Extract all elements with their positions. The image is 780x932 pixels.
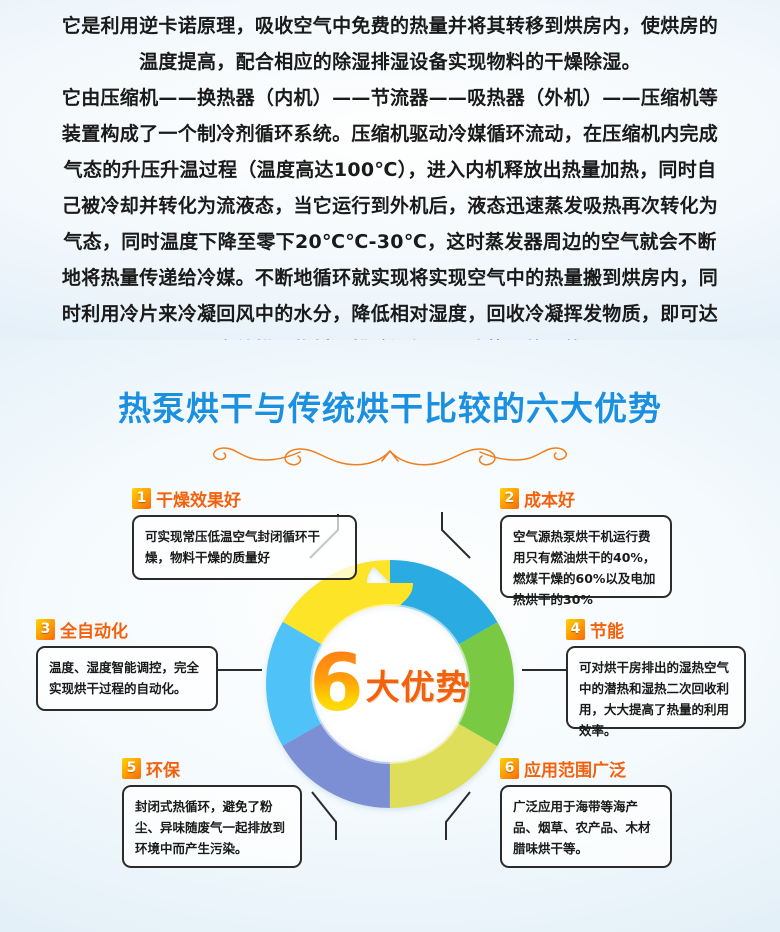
callout-3: 3 全自动化 温度、湿度智能调控，完全实现烘干过程的自动化。 [36,617,218,711]
callout-4-title: 节能 [590,617,624,642]
intro-section: 它是利用逆卡诺原理，吸收空气中免费的热量并将其转移到烘房内，使烘房的温度提高，配… [0,0,780,340]
callout-6-body: 广泛应用于海带等海产品、烟草、农产品、木材腊味烘干等。 [500,785,672,868]
callout-4: 4 节能 可对烘干房排出的湿热空气中的潜热和湿热二次回收利用，大大提高了热量的利… [566,617,746,729]
callout-1-badge: 1 [132,488,151,509]
callout-2-title: 成本好 [524,486,575,511]
intro-paragraph-2: 它由压缩机——换热器（内机）——节流器——吸热器（外机）——压缩机等装置构成了一… [60,80,720,368]
callout-2-head: 2 成本好 [500,486,672,511]
advantages-section: 热泵烘干与传统烘干比较的六大优势 [0,340,780,932]
intro-paragraph-1: 它是利用逆卡诺原理，吸收空气中免费的热量并将其转移到烘房内，使烘房的温度提高，配… [60,8,720,80]
callout-1-title: 干燥效果好 [156,486,241,511]
callout-6-title: 应用范围广泛 [524,756,626,781]
callout-3-body: 温度、湿度智能调控，完全实现烘干过程的自动化。 [36,646,218,711]
callout-1: 1 干燥效果好 可实现常压低温空气封闭循环干燥，物料干燥的质量好 [132,486,357,580]
callout-6: 6 应用范围广泛 广泛应用于海带等海产品、烟草、农产品、木材腊味烘干等。 [500,756,672,868]
callout-4-head: 4 节能 [566,617,746,642]
callout-2: 2 成本好 空气源热泵烘干机运行费用只有燃油烘干的40%，燃煤干燥的60%以及电… [500,486,672,598]
intro-text-block: 它是利用逆卡诺原理，吸收空气中免费的热量并将其转移到烘房内，使烘房的温度提高，配… [60,8,720,368]
callout-2-body: 空气源热泵烘干机运行费用只有燃油烘干的40%，燃煤干燥的60%以及电加热烘干的3… [500,515,672,598]
callout-2-badge: 2 [500,488,519,509]
page-root: 它是利用逆卡诺原理，吸收空气中免费的热量并将其转移到烘房内，使烘房的温度提高，配… [0,0,780,932]
callout-3-badge: 3 [36,619,55,640]
callout-5-title: 环保 [146,756,180,781]
callout-6-badge: 6 [500,758,519,779]
page-title: 热泵烘干与传统烘干比较的六大优势 [0,382,780,430]
callout-3-title: 全自动化 [60,617,128,642]
callout-4-body: 可对烘干房排出的湿热空气中的潜热和湿热二次回收利用，大大提高了热量的利用效率。 [566,646,746,729]
callout-5-head: 5 环保 [122,756,302,781]
callout-5-body: 封闭式热循环，避免了粉尘、异味随废气一起排放到环境中而产生污染。 [122,785,302,868]
callout-1-body: 可实现常压低温空气封闭循环干燥，物料干燥的质量好 [132,515,357,580]
callout-6-head: 6 应用范围广泛 [500,756,672,781]
callout-5-badge: 5 [122,758,141,779]
callout-3-head: 3 全自动化 [36,617,218,642]
callout-1-head: 1 干燥效果好 [132,486,357,511]
flourish-divider-icon [50,440,730,474]
callout-4-badge: 4 [566,619,585,640]
callout-5: 5 环保 封闭式热循环，避免了粉尘、异味随废气一起排放到环境中而产生污染。 [122,756,302,868]
